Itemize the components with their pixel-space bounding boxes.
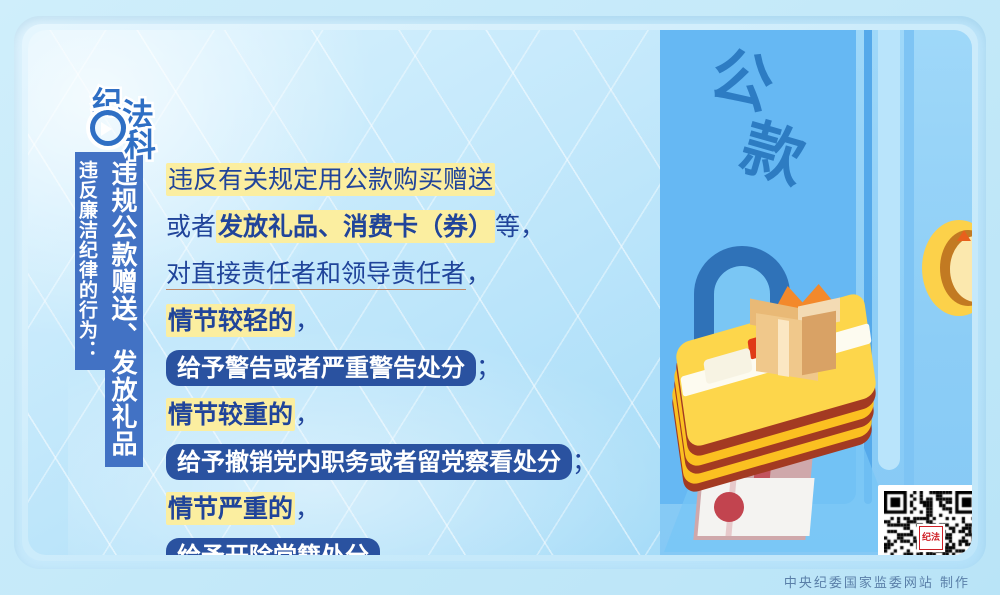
line-4-highlight: 情节较轻的: [166, 304, 295, 337]
play-triangle-icon: [101, 122, 112, 136]
line-8-highlight: 情节严重的: [166, 492, 295, 525]
line-3-underlined: 对直接责任者和领导责任者: [166, 259, 466, 290]
door-label-char-2: 款: [734, 114, 812, 195]
line-2-prefix: 或者: [166, 212, 216, 241]
main-text-block: 违反有关规定用公款购买赠送 或者发放礼品、消费卡（券）等， 对直接责任者和领导责…: [166, 158, 636, 555]
text-line-6: 情节较重的，: [166, 393, 636, 437]
text-line-8: 情节严重的，: [166, 487, 636, 531]
line-7-suffix: ；: [572, 447, 597, 476]
line-3-suffix: ，: [466, 259, 491, 288]
qr-center-logo: 纪法: [917, 524, 945, 552]
text-line-3: 对直接责任者和领导责任者，: [166, 252, 636, 296]
line-2-suffix: 等，: [495, 212, 545, 241]
gift-box-icon: [746, 280, 856, 390]
text-line-5: 给予警告或者严重警告处分；: [166, 346, 636, 390]
line-5-suffix: ；: [476, 353, 501, 382]
line-1-highlight: 违反有关规定用公款购买赠送: [166, 163, 495, 196]
line-6-suffix: ，: [295, 400, 320, 429]
vertical-banner: 违规公款赠送、发放礼品 违反廉洁纪律的行为：: [75, 152, 143, 467]
text-line-2: 或者发放礼品、消费卡（券）等，: [166, 205, 636, 249]
text-line-4: 情节较轻的，: [166, 299, 636, 343]
qr-code[interactable]: 纪法: [878, 485, 972, 555]
line-4-suffix: ，: [295, 306, 320, 335]
line-2-highlight: 发放礼品、消费卡（券）: [216, 210, 495, 243]
logo-char-ke: 科: [124, 120, 156, 166]
line-7-penalty-badge: 给予撤销党内职务或者留党察看处分: [166, 444, 572, 480]
brand-logo[interactable]: 纪 法 科: [82, 80, 178, 152]
line-6-highlight: 情节较重的: [166, 398, 295, 431]
qr-center-logo-text: 纪法: [919, 526, 943, 550]
line-9-suffix: 。: [380, 541, 405, 555]
text-line-7: 给予撤销党内职务或者留党察看处分；: [166, 440, 636, 484]
banner-topic-label: 违规公款赠送、发放礼品: [105, 152, 143, 467]
gift-ribbon-vertical: [778, 319, 789, 377]
door-label-char-1: 公: [703, 40, 781, 121]
line-8-suffix: ，: [295, 494, 320, 523]
poster-root: 公 款: [0, 0, 1000, 595]
gift-body-right: [802, 311, 836, 376]
line-5-penalty-badge: 给予警告或者严重警告处分: [166, 350, 476, 386]
vault-dial-marker-icon: [957, 230, 971, 241]
text-line-1: 违反有关规定用公款购买赠送: [166, 158, 636, 202]
poster-card: 公 款: [28, 30, 972, 555]
text-line-9: 给予开除党籍处分。: [166, 534, 636, 555]
banner-category-label: 违反廉洁纪律的行为：: [75, 152, 105, 370]
banknote-seal-dot: [714, 492, 744, 522]
credit-text: 中央纪委国家监委网站 制作: [784, 572, 970, 591]
line-9-penalty-badge: 给予开除党籍处分: [166, 538, 380, 555]
qr-code-matrix: 纪法: [884, 491, 972, 555]
